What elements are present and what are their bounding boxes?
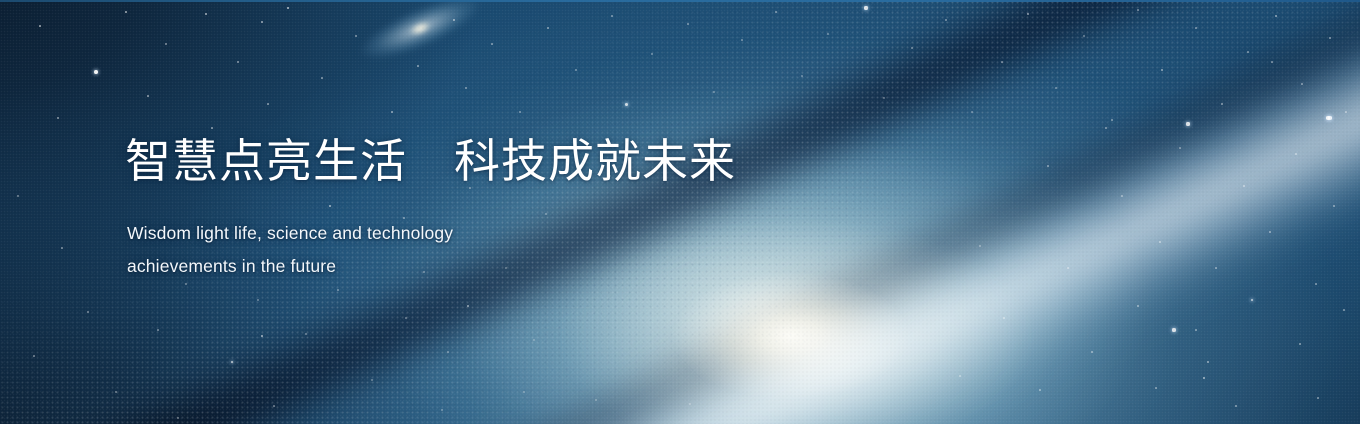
star — [61, 247, 63, 249]
star — [533, 339, 534, 340]
star — [1195, 27, 1197, 29]
star — [827, 33, 829, 35]
star — [1251, 299, 1254, 302]
star — [453, 19, 455, 21]
star — [1207, 361, 1209, 363]
star — [261, 21, 263, 23]
star — [211, 127, 213, 129]
star — [971, 111, 972, 112]
star — [115, 391, 116, 392]
star — [1315, 283, 1317, 285]
banner-subtitle-line-1: Wisdom light life, science and technolog… — [127, 217, 885, 250]
star — [287, 7, 289, 9]
star — [125, 11, 127, 13]
star — [611, 15, 613, 17]
star — [1299, 343, 1301, 345]
star — [687, 23, 689, 25]
star — [801, 75, 802, 76]
star — [1203, 377, 1205, 379]
star — [491, 43, 493, 45]
star — [94, 70, 98, 74]
star — [523, 391, 524, 392]
star — [87, 311, 88, 312]
banner-subtitle: Wisdom light life, science and technolog… — [127, 217, 885, 283]
star — [205, 13, 207, 15]
banner-copy: 智慧点亮生活 科技成就未来 Wisdom light life, science… — [125, 131, 885, 283]
star — [1172, 328, 1175, 331]
star — [1039, 389, 1041, 391]
star — [651, 53, 652, 54]
star — [1317, 397, 1319, 399]
star — [1055, 87, 1057, 89]
star — [33, 355, 35, 357]
star — [337, 289, 339, 291]
star — [864, 6, 867, 9]
star — [57, 117, 58, 118]
star — [1343, 309, 1345, 311]
star — [157, 329, 159, 331]
star — [261, 335, 263, 337]
star — [1275, 15, 1277, 17]
star — [17, 195, 18, 196]
star — [625, 103, 628, 106]
star — [267, 103, 269, 105]
star — [575, 69, 576, 70]
hero-banner: 智慧点亮生活 科技成就未来 Wisdom light life, science… — [0, 0, 1360, 424]
star — [257, 299, 258, 300]
star — [519, 111, 520, 112]
star — [1155, 387, 1157, 389]
star — [237, 61, 238, 62]
distant-galaxy-core — [405, 17, 434, 39]
star — [417, 65, 419, 67]
star — [1195, 329, 1197, 331]
banner-subtitle-line-2: achievements in the future — [127, 250, 885, 283]
star — [355, 35, 356, 36]
star — [185, 283, 186, 284]
star — [165, 43, 166, 44]
distant-galaxy-icon — [342, 0, 497, 78]
distant-galaxy-disk — [342, 0, 497, 78]
star — [1235, 405, 1237, 407]
banner-headline: 智慧点亮生活 科技成就未来 — [125, 131, 885, 191]
star — [741, 39, 743, 41]
star — [39, 25, 41, 27]
star — [391, 111, 393, 113]
star — [1161, 69, 1163, 71]
star — [321, 77, 323, 79]
star — [775, 11, 777, 13]
star — [547, 27, 549, 29]
star — [441, 409, 442, 410]
star — [465, 87, 466, 88]
star — [147, 95, 149, 97]
star — [713, 91, 714, 92]
